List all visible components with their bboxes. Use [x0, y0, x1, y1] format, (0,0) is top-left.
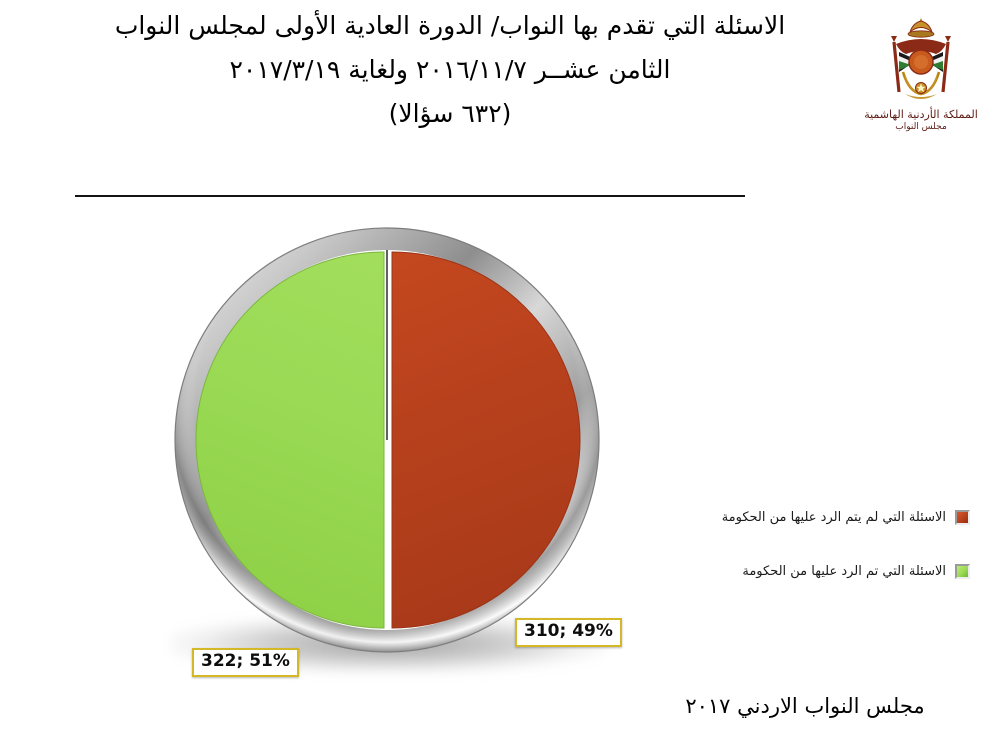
- data-label-answered: 322; 51%: [192, 648, 299, 677]
- slide-page: الاسئلة التي تقدم بها النواب/ الدورة الع…: [0, 0, 989, 742]
- chart-legend: الاسئلة التي لم يتم الرد عليها من الحكوم…: [688, 506, 970, 614]
- legend-swatch-red-icon: [955, 510, 970, 525]
- pie-svg: [148, 222, 626, 670]
- jordan-coat-of-arms-emblem: المملكة الأردنية الهاشمية مجلس النواب: [862, 12, 980, 140]
- page-title: الاسئلة التي تقدم بها النواب/ الدورة الع…: [55, 4, 845, 136]
- legend-item-answered[interactable]: الاسئلة التي تم الرد عليها من الحكومة: [688, 560, 970, 584]
- title-line-2: الثامن عشــر ٢٠١٦/١١/٧ ولغاية ٢٠١٧/٣/١٩: [55, 48, 845, 92]
- data-label-unanswered: 310; 49%: [515, 618, 622, 647]
- legend-swatch-green-icon: [955, 564, 970, 579]
- header-divider: [75, 195, 745, 197]
- legend-label-answered: الاسئلة التي تم الرد عليها من الحكومة: [688, 560, 946, 584]
- emblem-caption-line-2: مجلس النواب: [862, 122, 980, 132]
- emblem-caption: المملكة الأردنية الهاشمية مجلس النواب: [862, 109, 980, 132]
- pie-graphic: [148, 222, 626, 670]
- legend-label-unanswered: الاسئلة التي لم يتم الرد عليها من الحكوم…: [688, 506, 946, 530]
- footer-text: مجلس النواب الاردني ٢٠١٧: [640, 694, 970, 718]
- legend-item-unanswered[interactable]: الاسئلة التي لم يتم الرد عليها من الحكوم…: [688, 506, 970, 530]
- title-line-1: الاسئلة التي تقدم بها النواب/ الدورة الع…: [55, 4, 845, 48]
- pie-chart: 310; 49% 322; 51% الاسئلة التي لم يتم ال…: [0, 200, 989, 700]
- title-line-3: (٦٣٢ سؤالا): [55, 92, 845, 136]
- coat-of-arms-icon: [865, 12, 977, 108]
- emblem-caption-line-1: المملكة الأردنية الهاشمية: [862, 109, 980, 122]
